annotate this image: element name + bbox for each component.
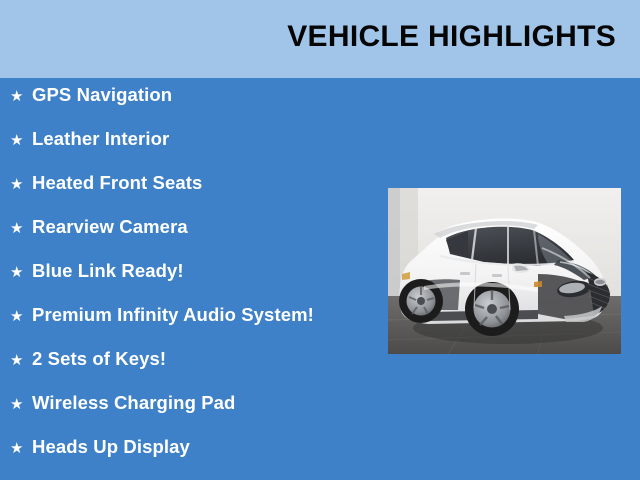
star-icon: ★	[10, 177, 32, 192]
vehicle-photo	[388, 188, 621, 354]
list-item-label: Heads Up Display	[32, 438, 190, 457]
star-icon: ★	[10, 89, 32, 104]
list-item-label: 2 Sets of Keys!	[32, 350, 166, 369]
list-item: ★ Heated Front Seats	[10, 174, 380, 218]
list-item-label: Blue Link Ready!	[32, 262, 184, 281]
list-item: ★ Heads Up Display	[10, 438, 380, 480]
star-icon: ★	[10, 309, 32, 324]
list-item: ★ GPS Navigation	[10, 86, 380, 130]
list-item: ★ 2 Sets of Keys!	[10, 350, 380, 394]
list-item-label: GPS Navigation	[32, 86, 172, 105]
list-item-label: Rearview Camera	[32, 218, 188, 237]
door-handle	[492, 274, 502, 277]
list-item: ★ Leather Interior	[10, 130, 380, 174]
star-icon: ★	[10, 441, 32, 456]
door-handle	[460, 272, 470, 275]
list-item-label: Premium Infinity Audio System!	[32, 306, 314, 325]
star-icon: ★	[10, 265, 32, 280]
page-title: VEHICLE HIGHLIGHTS	[287, 22, 640, 52]
list-item-label: Leather Interior	[32, 130, 169, 149]
highlights-list: ★ GPS Navigation ★ Leather Interior ★ He…	[0, 78, 380, 480]
list-item: ★ Premium Infinity Audio System!	[10, 306, 380, 350]
list-item: ★ Wireless Charging Pad	[10, 394, 380, 438]
header-bar: VEHICLE HIGHLIGHTS	[0, 0, 640, 78]
side-marker-light	[534, 281, 542, 287]
list-item: ★ Blue Link Ready!	[10, 262, 380, 306]
list-item-label: Heated Front Seats	[32, 174, 202, 193]
star-icon: ★	[10, 353, 32, 368]
list-item: ★ Rearview Camera	[10, 218, 380, 262]
star-icon: ★	[10, 397, 32, 412]
vehicle-highlights-slide: VEHICLE HIGHLIGHTS ★ GPS Navigation ★ Le…	[0, 0, 640, 480]
star-icon: ★	[10, 133, 32, 148]
list-item-label: Wireless Charging Pad	[32, 394, 235, 413]
star-icon: ★	[10, 221, 32, 236]
